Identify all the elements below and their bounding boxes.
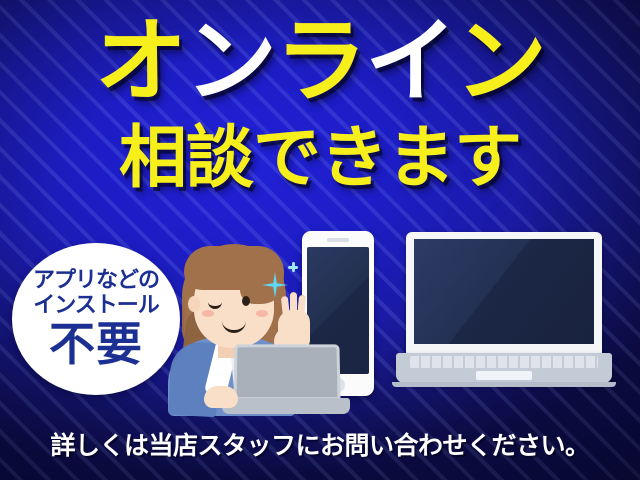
laptop-illustration [396,232,612,392]
woman-typing-hand [204,386,238,408]
woman-eye-right [242,296,250,306]
promo-banner: オンライン 相談できます [0,0,640,480]
badge-line-1: アプリなどの [33,269,159,294]
sparkle-small-icon [288,262,298,272]
woman-cheek-right [256,310,268,317]
laptop-keyboard [410,356,598,368]
laptop-lid [406,232,602,355]
laptop-foot [392,382,616,387]
no-install-badge: アプリなどの インストール 不要 [12,243,180,395]
illustration-stage [0,0,640,480]
sparkle-icon [262,272,288,298]
footer-note: 詳しくは当店スタッフにお問い合わせください。 [0,426,640,462]
smartphone-speaker [327,238,349,242]
badge-line-2: インストール [33,294,159,319]
woman-laptop-base [222,398,350,414]
staff-woman-illustration [160,238,325,408]
laptop-screen [414,239,594,344]
woman-laptop-lid [233,344,340,400]
woman-ear [188,296,200,312]
laptop-trackpad [476,371,532,380]
woman-cheek-left [202,310,214,317]
woman-laptop-illustration [222,344,340,414]
badge-line-3: 不要 [49,320,143,368]
